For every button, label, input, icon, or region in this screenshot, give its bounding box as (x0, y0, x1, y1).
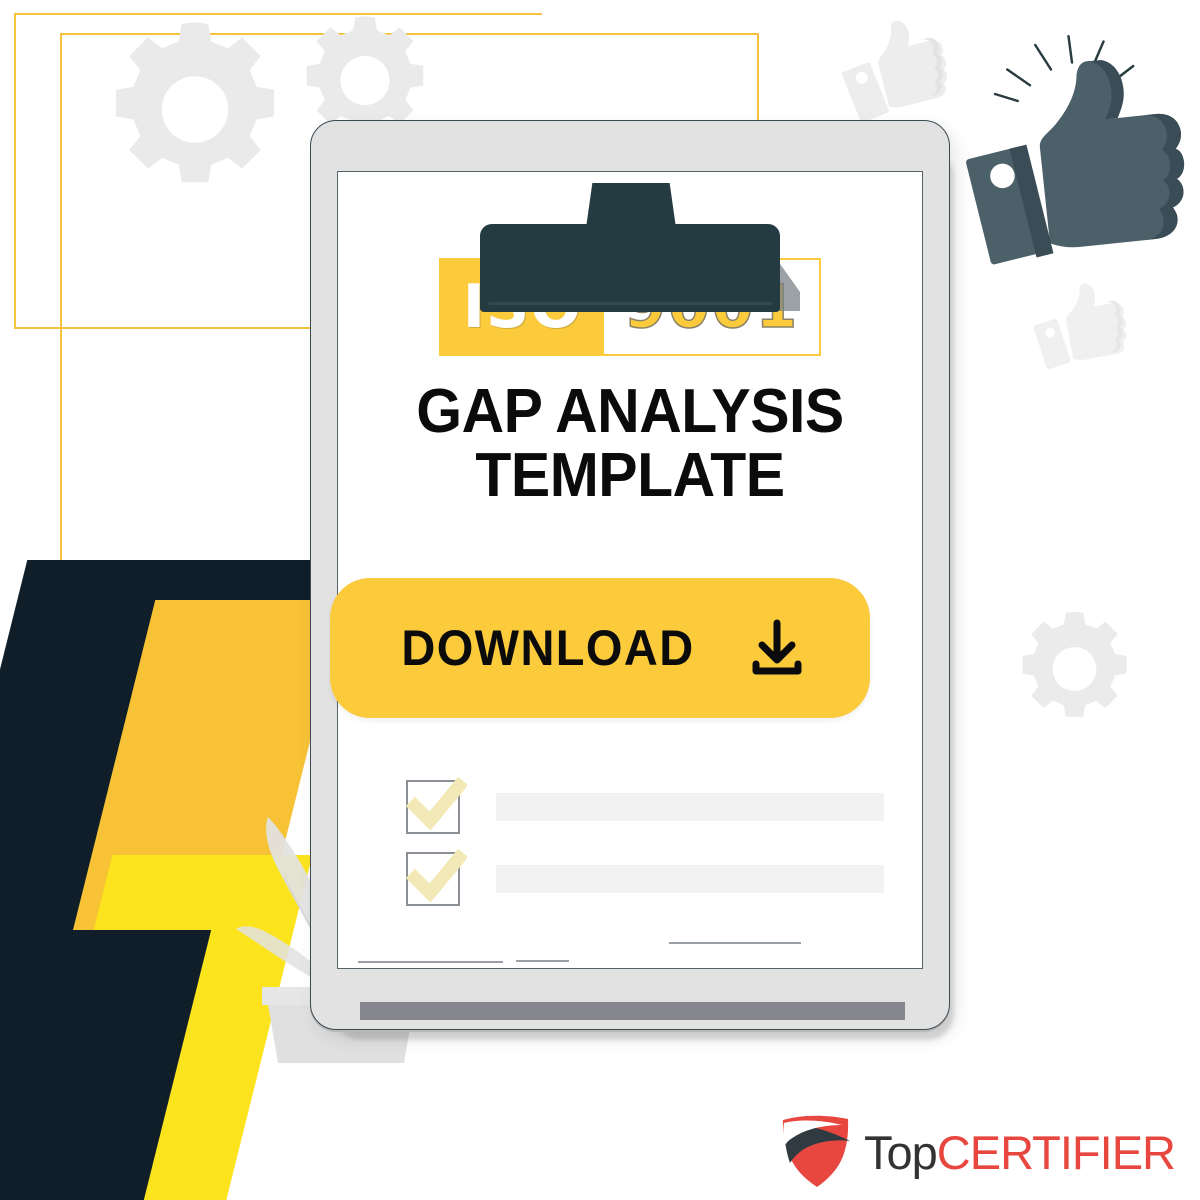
signature-rule (669, 942, 801, 944)
decorative-slab-dark (0, 560, 327, 1200)
download-button[interactable]: DOWNLOAD (330, 578, 870, 718)
thumbs-up-icon (838, 18, 968, 133)
thumbs-up-icon (960, 25, 1200, 280)
shield-check-logo-icon (778, 1112, 856, 1193)
signature-scribble-icon (648, 947, 848, 969)
logo-wordmark-part-1: Top (864, 1126, 937, 1179)
decorative-slab-dark-lower (0, 930, 211, 1200)
download-button-label: DOWNLOAD (401, 619, 694, 677)
thumbs-up-icon (1030, 280, 1145, 385)
gear-icon (100, 12, 290, 207)
topcertifier-logo[interactable]: TopCERTIFIER (778, 1112, 1175, 1193)
logo-wordmark: TopCERTIFIER (864, 1129, 1175, 1176)
clipboard-clip-icon (480, 224, 780, 312)
logo-wordmark-part-2: CERTIFIER (937, 1126, 1175, 1179)
decorative-slab-yellow (8, 855, 313, 1200)
decorative-slab-amber (0, 600, 345, 1200)
signature-rule (516, 960, 569, 962)
clipboard-icon: ISO 9001 GAP ANALYSIS TEMPLATE (310, 120, 950, 1030)
gear-icon (1012, 605, 1137, 733)
paper-bottom-shadow (360, 1002, 905, 1020)
download-arrow-icon (746, 617, 808, 679)
signature-rule (358, 961, 503, 963)
poster-canvas: ISO 9001 GAP ANALYSIS TEMPLATE (0, 0, 1200, 1200)
